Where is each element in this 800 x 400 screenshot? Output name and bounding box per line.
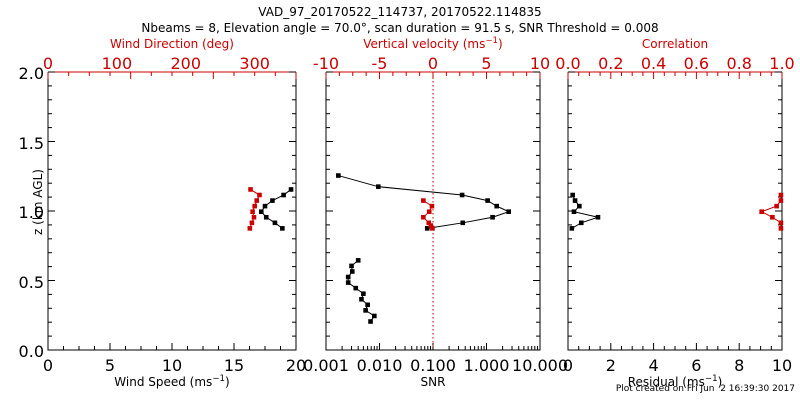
panel1-xtick-top-3: 300 [239,56,270,72]
panel2-xtick-1: 0.010 [357,358,403,374]
panel3-xtick-3: 6 [691,358,701,374]
ytick-1: 0.5 [18,275,44,291]
panel3-xlabel-top: Correlation [565,38,785,50]
panel-3 [568,72,783,350]
ytick-0: 0.0 [18,344,44,360]
panel2-xtick-top-1: -5 [372,56,388,72]
panel2-xtick-top-4: 10 [530,56,550,72]
panel3-xtick-top-2: 0.4 [641,56,666,72]
panel1-xtick-3: 15 [224,358,244,374]
panel-2 [326,72,540,350]
panel2-xtick-3: 1.000 [464,358,510,374]
panel3-xtick-2: 4 [649,358,659,374]
panel2-xtick-0: 0.001 [303,358,349,374]
panel2-xtick-top-3: 5 [481,56,491,72]
figure-canvas: VAD_97_20170522_114737, 20170522.114835 … [0,0,800,400]
panel1-xtick-0: 0 [43,358,53,374]
panel3-xlabel: Residual (ms−1) [565,376,785,388]
panel2-xlabel-top: Vertical velocity (ms−1) [323,38,543,50]
panel3-xtick-top-0: 0.0 [555,56,580,72]
panel-1 [48,72,296,350]
panel1-xtick-top-1: 100 [102,56,133,72]
panel3-xtick-top-4: 0.8 [726,56,751,72]
panel2-xtick-4: 10.000 [512,358,568,374]
ytick-3: 1.5 [18,136,44,152]
ytick-2: 1.0 [18,205,44,221]
panel2-xtick-top-0: -10 [313,56,339,72]
panel2-xtick-top-2: 0 [428,56,438,72]
ytick-4: 2.0 [18,66,44,82]
panel1-xtick-top-0: 0 [43,56,53,72]
panel3-xtick-0: 0 [563,358,573,374]
panel1-xlabel-top: Wind Direction (deg) [62,38,282,50]
panel1-xtick-2: 10 [162,358,182,374]
panel2-xtick-2: 0.100 [410,358,456,374]
panel3-xtick-1: 2 [606,358,616,374]
panel3-xtick-top-5: 1.0 [769,56,794,72]
panel3-xtick-top-3: 0.6 [684,56,709,72]
panel3-xtick-5: 10 [772,358,792,374]
panel1-xtick-1: 5 [105,358,115,374]
panel1-xlabel: Wind Speed (ms−1) [62,376,282,388]
panel2-xlabel: SNR [323,376,543,388]
panel3-xtick-top-1: 0.2 [598,56,623,72]
panel1-xtick-top-2: 200 [170,56,201,72]
panel3-xtick-4: 8 [734,358,744,374]
